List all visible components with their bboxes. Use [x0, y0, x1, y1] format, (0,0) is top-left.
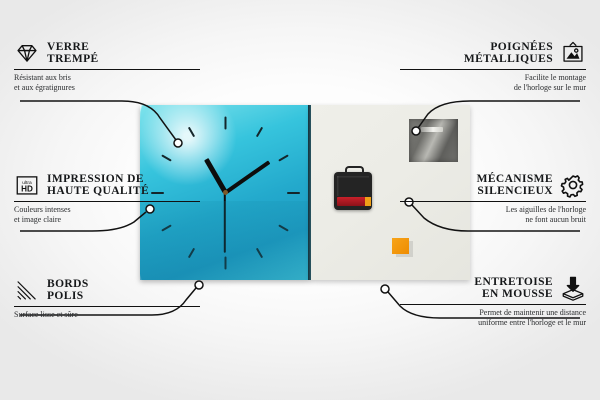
feature-subtitle: Couleurs intenses — [14, 205, 200, 215]
clock-hour-hand — [204, 158, 227, 193]
clock-hour-mark — [255, 248, 262, 259]
feature-verre-trempe: VERRE TREMPÉ Résistant aux bris et aux é… — [14, 40, 200, 92]
divider — [14, 306, 200, 307]
clock-hour-mark — [255, 127, 262, 138]
clock-hour-mark — [161, 224, 172, 231]
feature-poignees-metalliques: POIGNÉES MÉTALLIQUES Facilite le montage… — [400, 40, 586, 92]
feature-subtitle: Permet de maintenir une distance — [400, 308, 586, 318]
feature-subtitle-2: et image claire — [14, 215, 200, 225]
feature-title-2: TREMPÉ — [47, 53, 99, 66]
feature-subtitle: Facilite le montage — [400, 73, 586, 83]
feature-title-2: EN MOUSSE — [474, 288, 553, 301]
clock-hour-mark — [224, 116, 226, 129]
feature-title-2: SILENCIEUX — [477, 185, 553, 198]
feature-entretoise-en-mousse: ENTRETOISE EN MOUSSE Permet de maintenir… — [400, 275, 586, 327]
clock-hour-mark — [187, 127, 194, 138]
clock-hour-mark — [279, 154, 290, 161]
clock-hour-mark — [279, 224, 290, 231]
feature-header: BORDS POLIS — [14, 277, 200, 303]
feature-subtitle-2: uniforme entre l'horloge et le mur — [400, 318, 586, 328]
feature-header: ultra HD IMPRESSION DE HAUTE QUALITÉ — [14, 172, 200, 198]
clock-mechanism — [334, 172, 372, 210]
metal-handle-plate — [409, 119, 458, 162]
feature-subtitle: Résistant aux bris — [14, 73, 200, 83]
feature-header: MÉCANISME SILENCIEUX — [400, 172, 586, 198]
foam-spacer — [392, 238, 409, 254]
feature-title: IMPRESSION DE — [47, 173, 149, 186]
feature-title: ENTRETOISE — [474, 276, 553, 289]
feature-subtitle-2: et aux égratignures — [14, 83, 200, 93]
feature-title-2: POLIS — [47, 290, 89, 303]
mechanism-face — [337, 176, 369, 196]
divider — [14, 201, 200, 202]
feature-subtitle-2: de l'horloge sur le mur — [400, 83, 586, 93]
feature-subtitle-2: ne font aucun bruit — [400, 215, 586, 225]
divider — [400, 69, 586, 70]
feature-impression-haute-qualite: ultra HD IMPRESSION DE HAUTE QUALITÉ Cou… — [14, 172, 200, 224]
feature-title: POIGNÉES — [464, 41, 553, 54]
picture-frame-hanger-icon — [560, 40, 586, 66]
divider — [14, 69, 200, 70]
feature-header: POIGNÉES MÉTALLIQUES — [400, 40, 586, 66]
gear-icon — [560, 172, 586, 198]
battery-terminal — [365, 197, 371, 206]
clock-hour-mark — [187, 248, 194, 259]
handle-slot — [421, 127, 443, 132]
feature-title-2: HAUTE QUALITÉ — [47, 185, 149, 198]
polished-edge-icon — [14, 277, 40, 303]
divider — [400, 304, 586, 305]
feature-subtitle: Surface lisse et sûre — [14, 310, 200, 320]
divider — [400, 201, 586, 202]
svg-text:HD: HD — [21, 185, 33, 194]
clock-hour-mark — [224, 256, 226, 269]
feature-bords-polis: BORDS POLIS Surface lisse et sûre — [14, 277, 200, 320]
panel-seam — [308, 105, 311, 280]
clock-minute-hand — [224, 160, 271, 194]
diamond-icon — [14, 40, 40, 66]
feature-header: ENTRETOISE EN MOUSSE — [400, 275, 586, 301]
clock-hour-mark — [161, 154, 172, 161]
infographic-canvas: VERRE TREMPÉ Résistant aux bris et aux é… — [0, 0, 600, 400]
feature-title: MÉCANISME — [477, 173, 553, 186]
clock-second-hand — [224, 192, 226, 252]
clock-hour-mark — [287, 192, 300, 194]
ultra-hd-icon: ultra HD — [14, 172, 40, 198]
feature-title: BORDS — [47, 278, 89, 291]
clock-hub — [223, 190, 228, 195]
feature-header: VERRE TREMPÉ — [14, 40, 200, 66]
feature-title-2: MÉTALLIQUES — [464, 53, 553, 66]
feature-title: VERRE — [47, 41, 99, 54]
foam-spacer-arrow-icon — [560, 275, 586, 301]
feature-subtitle: Les aiguilles de l'horloge — [400, 205, 586, 215]
feature-mecanisme-silencieux: MÉCANISME SILENCIEUX Les aiguilles de l'… — [400, 172, 586, 224]
